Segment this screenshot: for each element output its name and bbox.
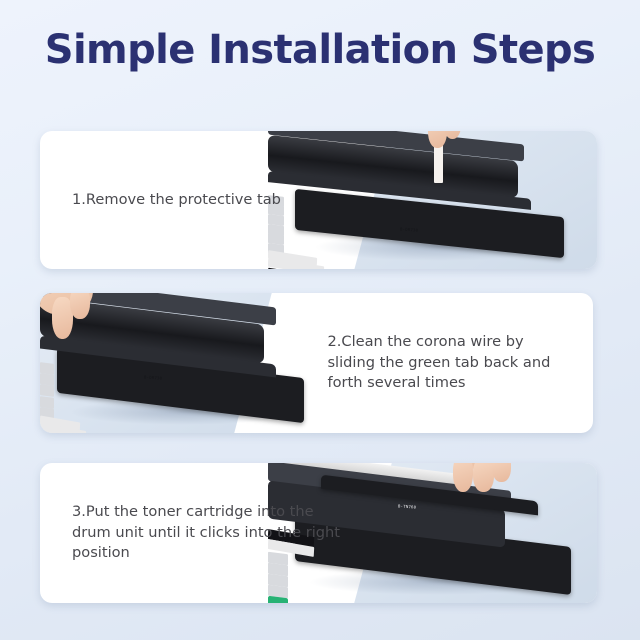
step-card-1-inner: B-DR730 1.Remove the protective tab — [40, 131, 597, 269]
step-3-text: 3.Put the toner cartridge into the drum … — [72, 502, 340, 564]
step-2-image: B-DR730 — [40, 293, 328, 433]
page-title: Simple Installation Steps — [0, 26, 640, 74]
step-card-1: B-DR730 1.Remove the protective tab — [40, 131, 597, 269]
drum-model-label-text: B-DR730 — [400, 226, 419, 232]
index-finger — [453, 463, 474, 492]
step-1-text: 1.Remove the protective tab — [72, 190, 281, 211]
middle-finger — [473, 463, 494, 492]
step-card-2-inner: B-DR730 2.Clean the corona wire by slidi… — [40, 293, 593, 433]
thumb — [444, 131, 461, 139]
step-card-3-inner: B-TN760 3.Put the toner cartridge into t… — [40, 463, 597, 603]
step-1-text-panel: 1.Remove the protective tab — [40, 131, 346, 269]
ring-finger — [492, 463, 511, 482]
step-card-3: B-TN760 3.Put the toner cartridge into t… — [40, 463, 597, 603]
index-finger — [428, 131, 447, 148]
hand-pulling-tab — [406, 131, 478, 148]
step-2-text-panel: 2.Clean the corona wire by sliding the g… — [305, 293, 593, 433]
hand-sliding-green-tab — [40, 293, 109, 341]
hand-inserting-cartridge — [439, 463, 524, 494]
middle-finger — [70, 293, 89, 319]
step-2-illustration: B-DR730 — [40, 293, 328, 433]
step-2-text: 2.Clean the corona wire by sliding the g… — [327, 332, 573, 394]
step-card-2: B-DR730 2.Clean the corona wire by slidi… — [40, 293, 593, 433]
drum-model-label-text: B-DR730 — [143, 374, 162, 380]
step-3-text-panel: 3.Put the toner cartridge into the drum … — [40, 463, 346, 603]
